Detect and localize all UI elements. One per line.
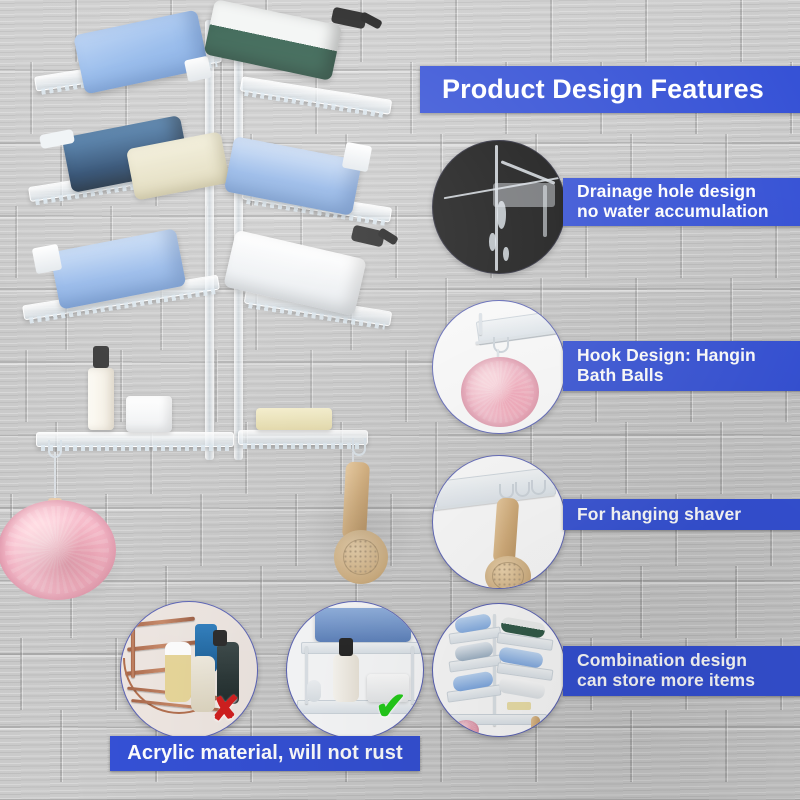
- feature-label-combination: Combination design can store more items: [563, 646, 800, 696]
- feature-photo-hook: [432, 300, 566, 434]
- feature-photo-combination: [432, 603, 566, 737]
- jar-hair-paste: [126, 396, 172, 432]
- comparison-banner: Acrylic material, will not rust: [110, 736, 420, 771]
- bar-of-soap: [256, 408, 332, 430]
- feature-label-line1: For hanging shaver: [577, 505, 741, 525]
- bottle-cap-white-2: [342, 142, 372, 172]
- feature-label-hook: Hook Design: Hangin Bath Balls: [563, 341, 800, 391]
- feature-photo-shaver: [432, 455, 566, 589]
- brush-shadow: [306, 470, 416, 590]
- page-title-banner: Product Design Features: [420, 66, 800, 113]
- feature-label-line2: can store more items: [577, 671, 755, 691]
- feature-label-line1: Hook Design: Hangin: [577, 346, 756, 366]
- loofah-shadow: [6, 520, 126, 610]
- check-mark-icon: ✔: [375, 688, 407, 726]
- feature-label-line1: Drainage hole design: [577, 182, 756, 202]
- cross-mark-icon: ✘: [211, 692, 240, 726]
- shelf-tray-soap-dish: [238, 430, 368, 445]
- feature-label-line2: no water accumulation: [577, 202, 769, 222]
- comparison-banner-text: Acrylic material, will not rust: [127, 742, 402, 765]
- feature-label-drainage: Drainage hole design no water accumulati…: [563, 178, 800, 226]
- page-title: Product Design Features: [442, 74, 764, 105]
- feature-label-shaver: For hanging shaver: [563, 499, 800, 530]
- shelf-tray-bottom-left: [36, 432, 234, 447]
- feature-photo-drainage: [432, 140, 566, 274]
- infographic-canvas: Product Design Features Drainage hole de…: [0, 0, 800, 800]
- feature-label-line2: Bath Balls: [577, 366, 664, 386]
- bottle-serum-pump: [88, 368, 114, 430]
- folded-towel: [315, 608, 411, 642]
- feature-label-line1: Combination design: [577, 651, 747, 671]
- shelf-post-left: [205, 20, 214, 460]
- shelf-hook-right: [352, 438, 366, 456]
- bottle-cap-white-3: [32, 244, 62, 274]
- loofah-string: [54, 452, 56, 502]
- serum-pump-cap: [93, 346, 109, 368]
